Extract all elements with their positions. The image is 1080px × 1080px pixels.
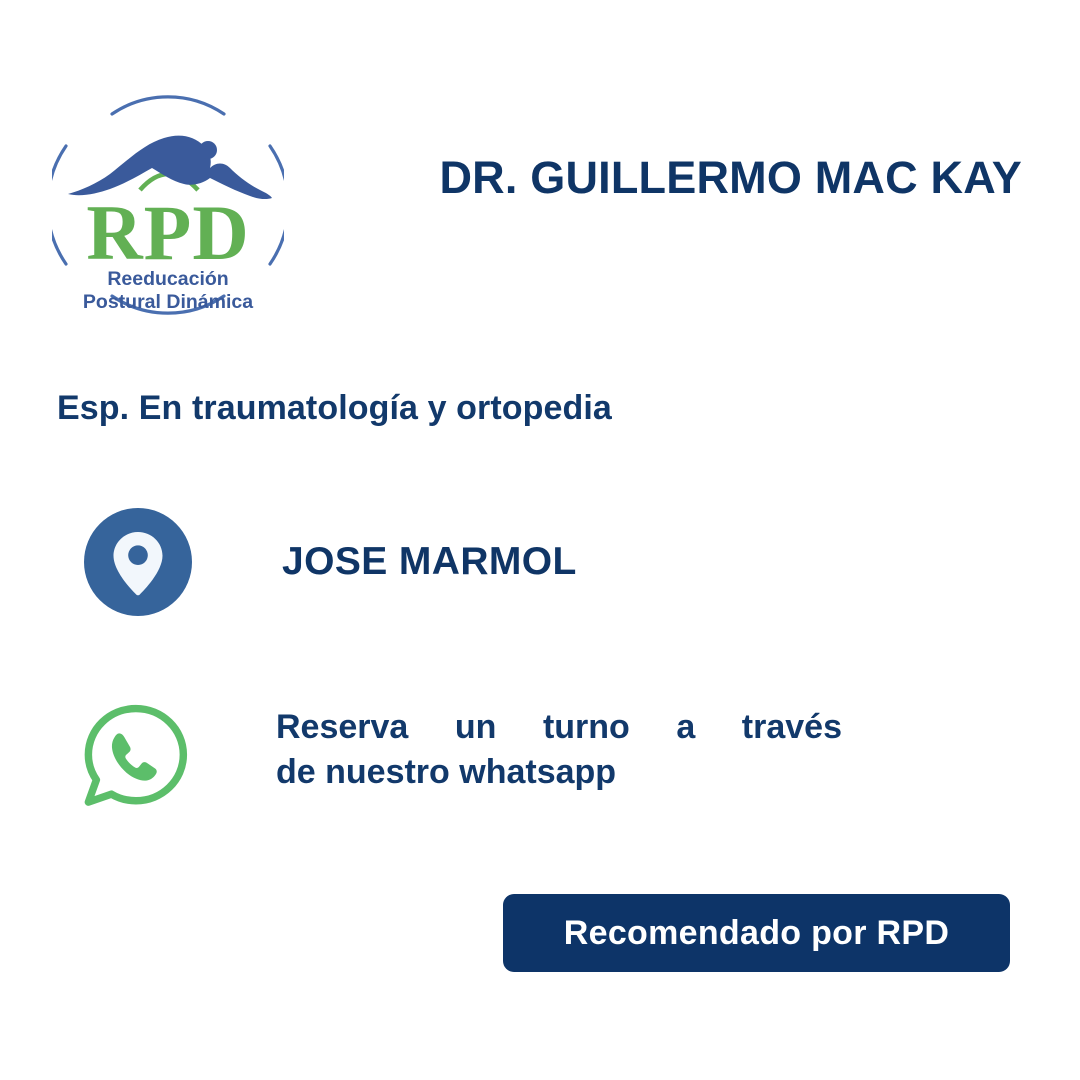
whatsapp-row: Reserva un turno a través de nuestro wha… (80, 697, 842, 817)
location-row: JOSE MARMOL (84, 508, 577, 616)
map-pin-icon-svg (84, 508, 192, 616)
business-card: RPD Reeducación Postural Dinámica DR. GU… (0, 0, 1080, 1080)
map-pin-icon (84, 508, 192, 616)
page-title: DR. GUILLERMO MAC KAY (330, 152, 1022, 204)
whatsapp-icon (80, 697, 188, 817)
recommended-by-rpd-button[interactable]: Recomendado por RPD (503, 894, 1010, 972)
rpd-logo: RPD Reeducación Postural Dinámica (52, 84, 284, 324)
rpd-logo-svg: RPD Reeducación Postural Dinámica (52, 84, 284, 324)
whatsapp-message-line2: de nuestro whatsapp (276, 750, 842, 795)
rpd-tagline-line2: Postural Dinámica (83, 291, 253, 313)
rpd-tagline-line1: Reeducación (107, 268, 228, 290)
whatsapp-message-line1: Reserva un turno a través (276, 705, 842, 750)
location-name: JOSE MARMOL (282, 540, 577, 584)
rpd-monogram: RPD (86, 189, 249, 276)
whatsapp-icon-svg (80, 697, 188, 817)
whatsapp-message: Reserva un turno a través de nuestro wha… (276, 705, 842, 795)
specialty-label: Esp. En traumatología y ortopedia (57, 389, 612, 428)
